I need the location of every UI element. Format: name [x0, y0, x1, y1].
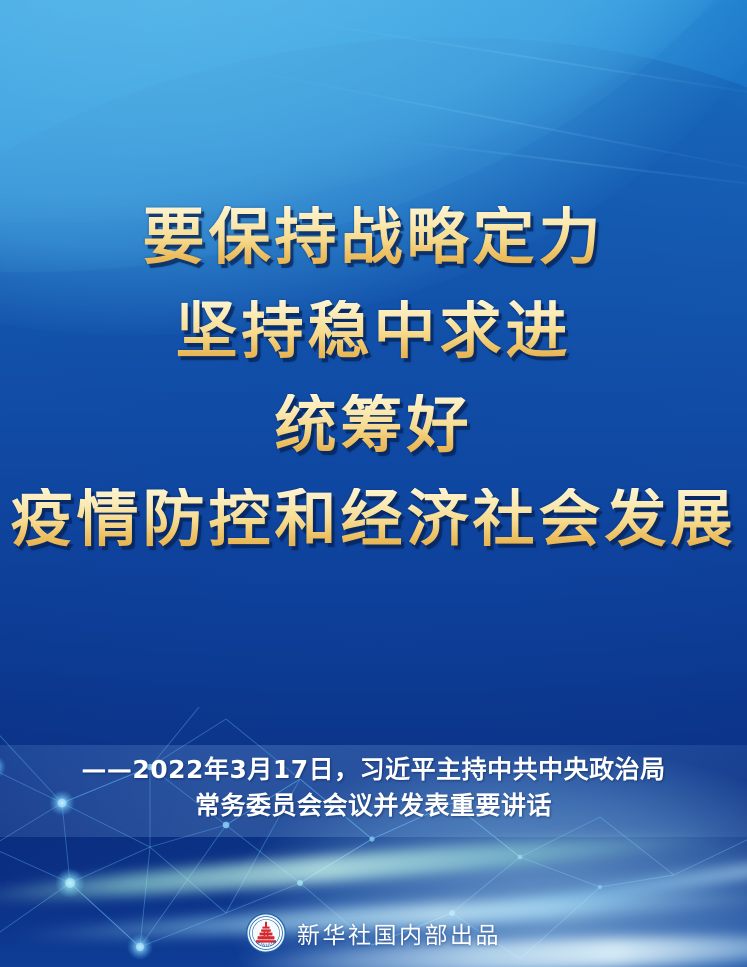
poster-title: 要保持战略定力 坚持稳中求进 统筹好 疫情防控和经济社会发展: [0, 206, 747, 550]
poster-canvas: 要保持战略定力 坚持稳中求进 统筹好 疫情防控和经济社会发展 ——2022年3月…: [0, 0, 747, 967]
title-line-4: 疫情防控和经济社会发展: [0, 488, 747, 550]
light-streak-2: [250, 70, 747, 179]
title-line-3: 统筹好: [0, 394, 747, 456]
title-line-2: 坚持稳中求进: [0, 300, 747, 362]
footer-credit-text: 新华社国内部出品: [297, 916, 501, 950]
caption-line-2: 常务委员会会议并发表重要讲话: [0, 788, 747, 824]
caption-line-1: ——2022年3月17日，习近平主持中共中央政治局: [0, 752, 747, 788]
title-line-1: 要保持战略定力: [0, 206, 747, 268]
xinhua-emblem-icon: XINHUA: [246, 913, 286, 953]
light-streak-1: [300, 20, 747, 103]
light-streak-3: [360, 135, 747, 194]
poster-caption: ——2022年3月17日，习近平主持中共中央政治局 常务委员会会议并发表重要讲话: [0, 752, 747, 823]
footer-credit: XINHUA 新华社国内部出品: [0, 913, 747, 953]
